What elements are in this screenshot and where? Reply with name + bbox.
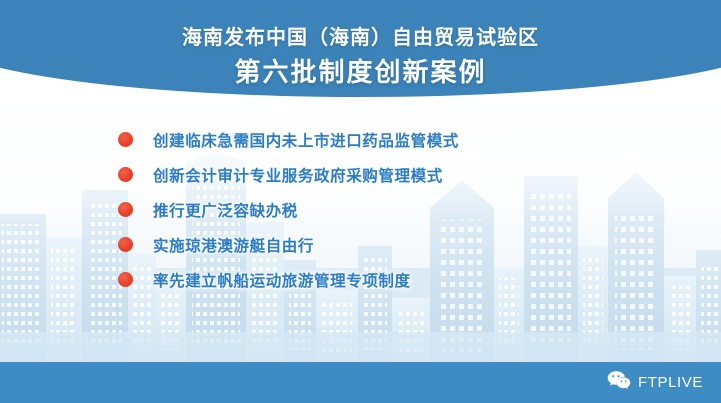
list-item-label: 创新会计审计专业服务政府采购管理模式: [153, 164, 443, 186]
poster: 海南发布中国（海南）自由贸易试验区 第六批制度创新案例 创建临床急需国内未上市进…: [0, 0, 721, 403]
page-title-line2: 第六批制度创新案例: [0, 56, 721, 88]
bullet-icon: [118, 202, 133, 217]
list-item: 率先建立帆船运动旅游管理专项制度: [118, 262, 678, 297]
header-title-block: 海南发布中国（海南）自由贸易试验区 第六批制度创新案例: [0, 0, 721, 104]
bullet-icon: [118, 167, 133, 182]
list-item: 创新会计审计专业服务政府采购管理模式: [118, 157, 678, 192]
list-item-label: 推行更广泛容缺办税: [153, 199, 298, 221]
list-item: 推行更广泛容缺办税: [118, 192, 678, 227]
case-list: 创建临床急需国内未上市进口药品监管模式 创新会计审计专业服务政府采购管理模式 推…: [118, 122, 678, 297]
list-item: 创建临床急需国内未上市进口药品监管模式: [118, 122, 678, 157]
list-item: 实施琼港澳游艇自由行: [118, 227, 678, 262]
bullet-icon: [118, 237, 133, 252]
bullet-icon: [118, 272, 133, 287]
watermark-label: FTPLIVE: [638, 374, 703, 391]
wechat-icon: [607, 370, 631, 395]
bullet-icon: [118, 132, 133, 147]
page-title-line1: 海南发布中国（海南）自由贸易试验区: [0, 26, 721, 50]
list-item-label: 创建临床急需国内未上市进口药品监管模式: [153, 129, 459, 151]
watermark: FTPLIVE: [607, 370, 703, 395]
list-item-label: 实施琼港澳游艇自由行: [153, 234, 314, 256]
list-item-label: 率先建立帆船运动旅游管理专项制度: [153, 269, 411, 291]
